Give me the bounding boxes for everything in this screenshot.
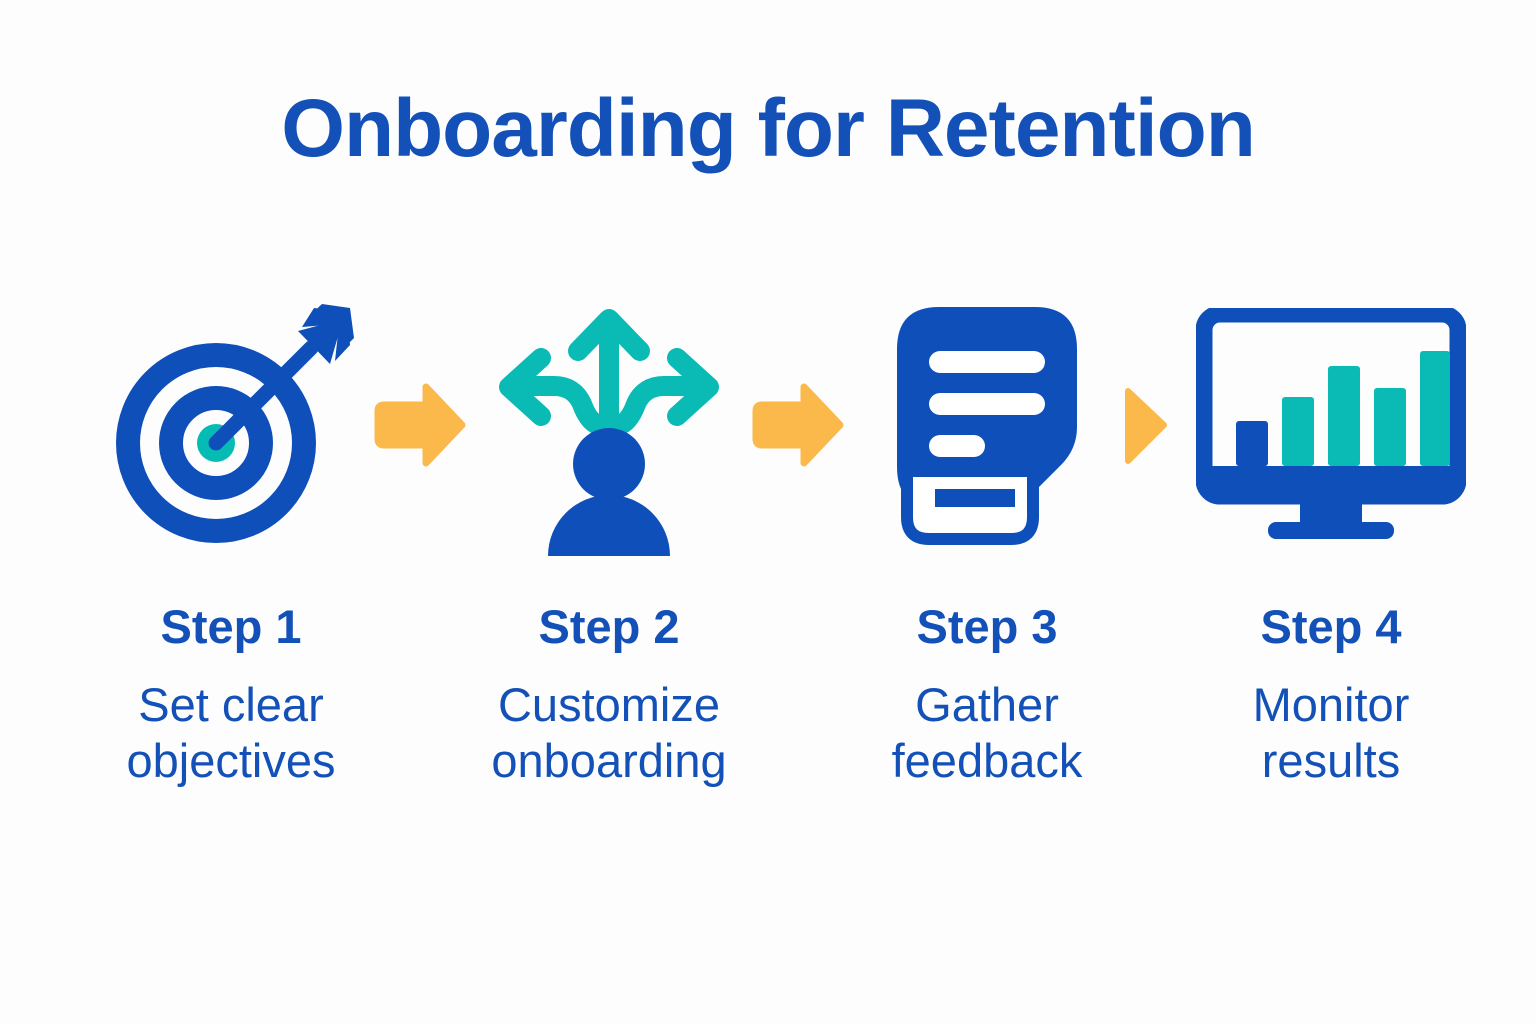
step-description: Monitor results <box>1181 677 1481 788</box>
step-card-3[interactable]: Step 3 Gather feedback <box>852 290 1122 788</box>
step-card-1[interactable]: Step 1 Set clear objectives <box>96 290 366 788</box>
step-title: Step 3 <box>916 602 1057 651</box>
feedback-document-icon <box>852 290 1122 560</box>
chart-bars <box>1236 351 1450 466</box>
step-card-2[interactable]: Step 2 Customize onboarding <box>474 290 744 788</box>
infographic-canvas: Onboarding for Retention <box>0 0 1536 1024</box>
step-title: Step 1 <box>160 602 301 651</box>
page-title: Onboarding for Retention <box>0 86 1536 172</box>
right-arrow-icon <box>366 290 474 560</box>
step-description: Customize onboarding <box>459 677 759 788</box>
step-title: Step 2 <box>538 602 679 651</box>
step-description: Set clear objectives <box>81 677 381 788</box>
person-branching-arrows-icon <box>474 290 744 560</box>
target-arrow-icon <box>96 290 366 560</box>
step-card-4[interactable]: Step 4 Monitor results <box>1196 290 1466 788</box>
right-arrow-icon <box>744 290 852 560</box>
right-arrow-head-icon <box>1122 290 1196 560</box>
step-description: Gather feedback <box>837 677 1137 788</box>
monitor-bar-chart-icon <box>1196 290 1466 560</box>
steps-row: Step 1 Set clear objectives <box>96 290 1440 850</box>
step-title: Step 4 <box>1260 602 1401 651</box>
